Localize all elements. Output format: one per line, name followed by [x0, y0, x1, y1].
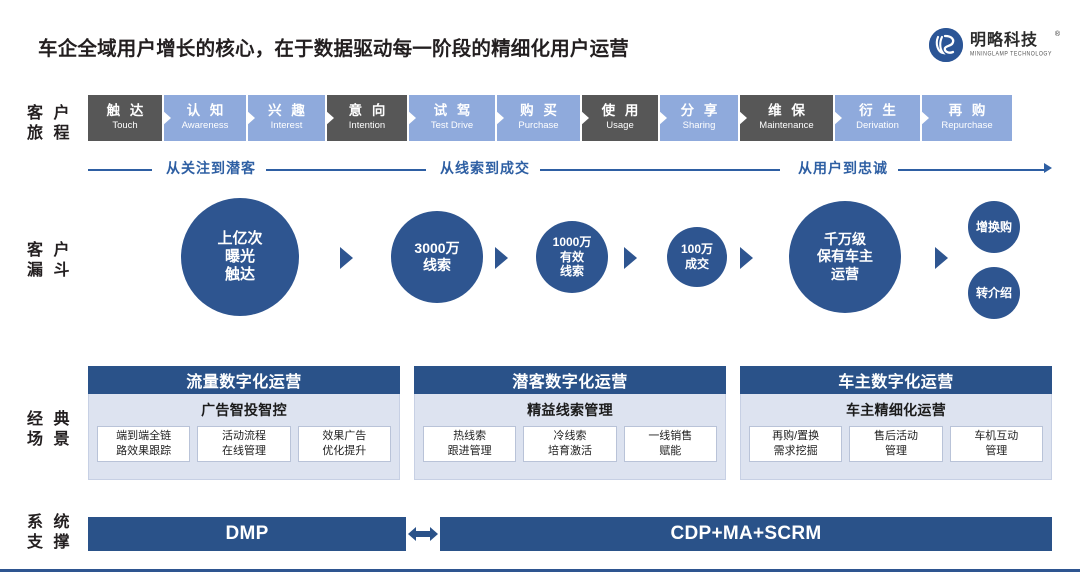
scenario-panel-header[interactable]: 车主数字化运营 — [740, 366, 1052, 394]
scenario-card-line1: 冷线索 — [548, 429, 592, 444]
journey-stage-9[interactable]: 维 保Maintenance — [740, 95, 833, 141]
journey-stage-label-en: Interest — [271, 120, 303, 132]
scenario-card-line1: 一线销售 — [648, 429, 692, 444]
funnel-node-line: 触达 — [225, 266, 255, 284]
row-label-scenarios: 经 典 场 景 — [27, 410, 89, 451]
scenario-card[interactable]: 车机互动管理 — [950, 426, 1043, 462]
scenario-card[interactable]: 售后活动管理 — [849, 426, 942, 462]
scenario-panel-2: 潜客数字化运营精益线索管理热线索跟进管理冷线索培育激活一线销售赋能 — [414, 366, 726, 480]
funnel-node-line: 千万级 — [824, 231, 866, 248]
arrow-right-icon — [1044, 163, 1052, 173]
funnel-node-line: 1000万 — [553, 235, 592, 250]
row-label-system-line1: 系 统 — [27, 513, 89, 533]
phase-connector-line — [898, 169, 1044, 171]
phase-label-2: 从线索到成交 — [440, 158, 530, 178]
scenario-card-line1: 热线索 — [448, 429, 492, 444]
phase-connector-line — [540, 169, 780, 171]
scenario-card-line1: 车机互动 — [974, 429, 1018, 444]
chevron-right-icon — [833, 110, 842, 126]
scenario-card-list: 热线索跟进管理冷线索培育激活一线销售赋能 — [415, 426, 725, 469]
funnel-node-line: 转介绍 — [976, 286, 1012, 301]
journey-stage-label-en: Repurchase — [941, 120, 992, 132]
chevron-right-icon — [325, 110, 334, 126]
funnel-node-line: 成交 — [685, 257, 709, 272]
funnel-node-line: 有效 — [560, 250, 584, 265]
funnel-node-line: 100万 — [681, 242, 713, 257]
journey-stage-6[interactable]: 购 买Purchase — [497, 95, 580, 141]
scenario-card-line2: 优化提升 — [322, 444, 366, 459]
funnel-node-4[interactable]: 100万成交 — [667, 227, 727, 287]
journey-stage-label-en: Maintenance — [759, 120, 813, 132]
scenario-card-line1: 端到端全链 — [116, 429, 171, 444]
journey-stage-label-cn: 维 保 — [765, 104, 808, 118]
scenario-card-text: 端到端全链路效果跟踪 — [116, 429, 171, 459]
journey-stage-2[interactable]: 认 知Awareness — [164, 95, 246, 141]
journey-stage-11[interactable]: 再 购Repurchase — [922, 95, 1012, 141]
journey-stage-label-cn: 再 购 — [946, 104, 989, 118]
scenario-panel-subtitle: 广告智投智控 — [201, 400, 287, 420]
scenario-panel-1: 流量数字化运营广告智投智控端到端全链路效果跟踪活动流程在线管理效果广告优化提升 — [88, 366, 400, 480]
scenario-card[interactable]: 冷线索培育激活 — [523, 426, 616, 462]
scenario-card-line1: 售后活动 — [874, 429, 918, 444]
chevron-right-icon — [162, 110, 171, 126]
chevron-right-icon — [920, 110, 929, 126]
phase-labels-row: 从关注到潜客从线索到成交从用户到忠诚 — [88, 158, 1052, 182]
page-header: 车企全域用户增长的核心，在于数据驱动每一阶段的精细化用户运营 明略科技® MIN… — [0, 0, 1080, 78]
journey-stage-label-cn: 试 驾 — [431, 104, 474, 118]
funnel-node-2[interactable]: 3000万线索 — [391, 211, 483, 303]
chevron-right-icon — [738, 110, 747, 126]
scenario-panel-3: 车主数字化运营车主精细化运营再购/置换需求挖掘售后活动管理车机互动管理 — [740, 366, 1052, 480]
chevron-right-icon — [580, 110, 589, 126]
double-arrow-icon — [406, 526, 440, 542]
scenario-card-line2: 路效果跟踪 — [116, 444, 171, 459]
journey-stage-label-cn: 分 享 — [678, 104, 721, 118]
funnel-node-line: 保有车主 — [817, 248, 873, 265]
scenario-panel-header[interactable]: 潜客数字化运营 — [414, 366, 726, 394]
journey-stage-label-cn: 衍 生 — [856, 104, 899, 118]
logo-cn-label: 明略科技 — [970, 32, 1038, 49]
funnel-node-5[interactable]: 千万级保有车主运营 — [789, 201, 901, 313]
journey-stage-5[interactable]: 试 驾Test Drive — [409, 95, 495, 141]
funnel-node-line: 上亿次 — [217, 230, 262, 248]
scenario-card[interactable]: 活动流程在线管理 — [197, 426, 290, 462]
row-label-system: 系 统 支 撑 — [27, 513, 89, 554]
scenario-card-line1: 再购/置换 — [772, 429, 819, 444]
journey-stage-label-en: Intention — [349, 120, 385, 132]
chevron-right-icon — [658, 110, 667, 126]
chevron-right-icon — [495, 110, 504, 126]
registered-mark: ® — [1055, 31, 1061, 38]
scenario-card-text: 活动流程在线管理 — [222, 429, 266, 459]
journey-stage-label-en: Purchase — [518, 120, 558, 132]
logo-text-en: MININGLAMP TECHNOLOGY — [970, 52, 1052, 58]
row-label-system-line2: 支 撑 — [27, 533, 89, 553]
scenario-card-text: 一线销售赋能 — [648, 429, 692, 459]
scenario-card-line2: 管理 — [874, 444, 918, 459]
funnel-node-line: 3000万 — [414, 240, 459, 257]
logo-text-cn: 明略科技® — [970, 33, 1052, 49]
funnel-node-line: 线索 — [423, 257, 451, 274]
customer-journey-strip: 触 达Touch认 知Awareness兴 趣Interest意 向Intent… — [88, 95, 1012, 141]
scenario-card-text: 车机互动管理 — [974, 429, 1018, 459]
journey-stage-8[interactable]: 分 享Sharing — [660, 95, 738, 141]
phase-connector-line — [88, 169, 152, 171]
journey-stage-label-en: Sharing — [683, 120, 716, 132]
system-bar-cdp[interactable]: CDP+MA+SCRM — [440, 517, 1052, 551]
funnel-node-1[interactable]: 上亿次曝光触达 — [181, 198, 299, 316]
phase-label-1: 从关注到潜客 — [166, 158, 256, 178]
funnel-node-3[interactable]: 1000万有效线索 — [536, 221, 608, 293]
row-label-scenarios-line2: 场 景 — [27, 430, 89, 450]
journey-stage-label-en: Derivation — [856, 120, 899, 132]
chevron-right-icon — [246, 110, 255, 126]
scenario-panels: 流量数字化运营广告智投智控端到端全链路效果跟踪活动流程在线管理效果广告优化提升潜… — [88, 366, 1052, 480]
journey-stage-label-en: Awareness — [182, 120, 229, 132]
journey-stage-label-en: Touch — [112, 120, 137, 132]
journey-stage-label-cn: 购 买 — [517, 104, 560, 118]
scenario-card-line2: 需求挖掘 — [772, 444, 819, 459]
funnel-node-line: 线索 — [560, 264, 584, 279]
row-label-journey-line2: 旅 程 — [27, 124, 89, 144]
system-bar-dmp[interactable]: DMP — [88, 517, 406, 551]
scenario-card-line2: 跟进管理 — [448, 444, 492, 459]
row-label-scenarios-line1: 经 典 — [27, 410, 89, 430]
page-title: 车企全域用户增长的核心，在于数据驱动每一阶段的精细化用户运营 — [38, 32, 629, 61]
scenario-card[interactable]: 效果广告优化提升 — [298, 426, 391, 462]
scenario-card-line1: 效果广告 — [322, 429, 366, 444]
scenario-card-line2: 管理 — [974, 444, 1018, 459]
scenario-card-list: 端到端全链路效果跟踪活动流程在线管理效果广告优化提升 — [89, 426, 399, 469]
funnel-node-6[interactable]: 增换购 — [968, 201, 1020, 253]
journey-stage-1[interactable]: 触 达Touch — [88, 95, 162, 141]
scenario-card-line2: 在线管理 — [222, 444, 266, 459]
system-support-row: DMPCDP+MA+SCRM — [88, 517, 1052, 551]
company-logo: 明略科技® MININGLAMP TECHNOLOGY — [929, 28, 1052, 62]
scenario-card-text: 再购/置换需求挖掘 — [772, 429, 819, 459]
journey-stage-4[interactable]: 意 向Intention — [327, 95, 407, 141]
scenario-panel-body: 精益线索管理热线索跟进管理冷线索培育激活一线销售赋能 — [414, 394, 726, 480]
journey-stage-label-cn: 使 用 — [599, 104, 642, 118]
scenario-card-text: 售后活动管理 — [874, 429, 918, 459]
customer-funnel: 上亿次曝光触达3000万线索1000万有效线索100万成交千万级保有车主运营增换… — [0, 190, 1080, 340]
chevron-right-icon — [407, 110, 416, 126]
funnel-arrow-icon-4 — [740, 247, 753, 269]
funnel-node-7[interactable]: 转介绍 — [968, 267, 1020, 319]
funnel-node-line: 运营 — [831, 266, 859, 283]
journey-stage-label-cn: 意 向 — [346, 104, 389, 118]
scenario-card[interactable]: 热线索跟进管理 — [423, 426, 516, 462]
scenario-card[interactable]: 一线销售赋能 — [624, 426, 717, 462]
journey-stage-label-cn: 触 达 — [104, 104, 147, 118]
funnel-arrow-icon-5 — [935, 247, 948, 269]
journey-stage-7[interactable]: 使 用Usage — [582, 95, 658, 141]
scenario-card-line2: 赋能 — [648, 444, 692, 459]
funnel-arrow-icon-3 — [624, 247, 637, 269]
scenario-card-list: 再购/置换需求挖掘售后活动管理车机互动管理 — [741, 426, 1051, 469]
journey-stage-label-cn: 兴 趣 — [265, 104, 308, 118]
row-label-journey: 客 户 旅 程 — [27, 104, 89, 145]
logo-mark-icon — [929, 28, 963, 62]
funnel-arrow-icon-2 — [495, 247, 508, 269]
journey-stage-10[interactable]: 衍 生Derivation — [835, 95, 920, 141]
journey-stage-3[interactable]: 兴 趣Interest — [248, 95, 325, 141]
journey-stage-label-cn: 认 知 — [184, 104, 227, 118]
scenario-card[interactable]: 端到端全链路效果跟踪 — [97, 426, 190, 462]
scenario-card-text: 冷线索培育激活 — [548, 429, 592, 459]
scenario-card-line2: 培育激活 — [548, 444, 592, 459]
journey-stage-label-en: Test Drive — [431, 120, 473, 132]
funnel-node-line: 曝光 — [225, 248, 255, 266]
phase-connector-line — [266, 169, 426, 171]
journey-stage-label-en: Usage — [606, 120, 633, 132]
scenario-card-text: 热线索跟进管理 — [448, 429, 492, 459]
scenario-panel-body: 车主精细化运营再购/置换需求挖掘售后活动管理车机互动管理 — [740, 394, 1052, 480]
scenario-card[interactable]: 再购/置换需求挖掘 — [749, 426, 842, 462]
funnel-arrow-icon-1 — [340, 247, 353, 269]
funnel-node-line: 增换购 — [976, 220, 1012, 235]
row-label-journey-line1: 客 户 — [27, 104, 89, 124]
scenario-panel-header[interactable]: 流量数字化运营 — [88, 366, 400, 394]
scenario-panel-body: 广告智投智控端到端全链路效果跟踪活动流程在线管理效果广告优化提升 — [88, 394, 400, 480]
scenario-panel-subtitle: 车主精细化运营 — [846, 400, 946, 420]
scenario-panel-subtitle: 精益线索管理 — [527, 400, 613, 420]
scenario-card-line1: 活动流程 — [222, 429, 266, 444]
scenario-card-text: 效果广告优化提升 — [322, 429, 366, 459]
phase-label-3: 从用户到忠诚 — [798, 158, 888, 178]
